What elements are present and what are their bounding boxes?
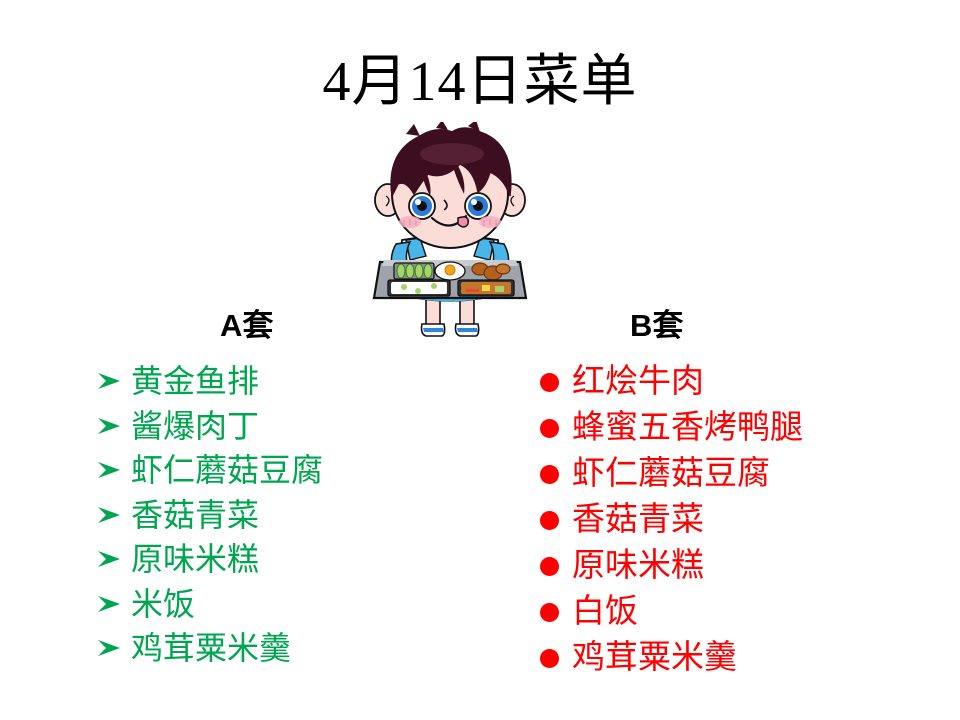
list-item-label: 虾仁蘑菇豆腐 bbox=[572, 451, 770, 497]
list-item: 原味米糕 bbox=[70, 537, 430, 582]
disc-bullet-icon bbox=[540, 419, 559, 438]
set-b-heading-latin: B bbox=[630, 308, 652, 343]
list-item: 蜂蜜五香烤鸭腿 bbox=[520, 405, 920, 451]
arrow-bullet-icon bbox=[96, 639, 122, 657]
list-item-label: 鸡茸粟米羹 bbox=[131, 626, 291, 671]
list-item: 鸡茸粟米羹 bbox=[70, 626, 430, 671]
list-item: 原味米糕 bbox=[520, 543, 920, 589]
arrow-bullet-icon bbox=[96, 550, 122, 568]
list-item: 虾仁蘑菇豆腐 bbox=[70, 448, 430, 493]
list-item-label: 原味米糕 bbox=[131, 537, 259, 582]
set-a-heading-cjk: 套 bbox=[242, 308, 273, 343]
set-b-heading-cjk: 套 bbox=[652, 308, 683, 343]
list-item-label: 香菇青菜 bbox=[572, 497, 704, 543]
disc-bullet-icon bbox=[540, 557, 559, 576]
menu-slide: 4月14日菜单 bbox=[0, 0, 960, 720]
fried-egg-food bbox=[435, 262, 465, 280]
disc-bullet-icon bbox=[540, 511, 559, 530]
set-a-item-list: 黄金鱼排 酱爆肉丁 虾仁蘑菇豆腐 香菇青菜 bbox=[70, 359, 430, 671]
list-item: 红烩牛肉 bbox=[520, 359, 920, 405]
menu-column-set-a: A套 黄金鱼排 酱爆肉丁 虾仁蘑菇豆腐 bbox=[70, 300, 430, 671]
list-item-label: 米饭 bbox=[131, 582, 195, 627]
rice-food bbox=[388, 280, 450, 296]
list-item-label: 白饭 bbox=[572, 589, 638, 635]
arrow-bullet-icon bbox=[96, 372, 122, 390]
arrow-bullet-icon bbox=[96, 461, 122, 479]
list-item-label: 酱爆肉丁 bbox=[131, 404, 259, 449]
disc-bullet-icon bbox=[540, 649, 559, 668]
side-dish-food bbox=[458, 280, 514, 296]
lunch-tray-group bbox=[374, 260, 526, 298]
set-a-heading-latin: A bbox=[220, 308, 242, 343]
list-item-label: 原味米糕 bbox=[572, 543, 704, 589]
list-item-label: 虾仁蘑菇豆腐 bbox=[131, 448, 323, 493]
disc-bullet-icon bbox=[540, 465, 559, 484]
list-item: 香菇青菜 bbox=[70, 493, 430, 538]
disc-bullet-icon bbox=[540, 373, 559, 392]
page-title: 4月14日菜单 bbox=[0, 52, 960, 114]
list-item: 鸡茸粟米羹 bbox=[520, 635, 920, 681]
list-item: 酱爆肉丁 bbox=[70, 404, 430, 449]
list-item-label: 红烩牛肉 bbox=[572, 359, 704, 405]
arrow-bullet-icon bbox=[96, 506, 122, 524]
list-item: 黄金鱼排 bbox=[70, 359, 430, 404]
list-item: 米饭 bbox=[70, 582, 430, 627]
arrow-bullet-icon bbox=[96, 595, 122, 613]
menu-column-set-b: B套 红烩牛肉 蜂蜜五香烤鸭腿 虾仁蘑菇豆腐 香菇青菜 原味米糕 bbox=[520, 300, 920, 681]
list-item-label: 香菇青菜 bbox=[131, 493, 259, 538]
tongue-shape bbox=[458, 217, 468, 227]
disc-bullet-icon bbox=[540, 603, 559, 622]
set-b-item-list: 红烩牛肉 蜂蜜五香烤鸭腿 虾仁蘑菇豆腐 香菇青菜 原味米糕 白饭 bbox=[520, 359, 920, 681]
list-item: 白饭 bbox=[520, 589, 920, 635]
arrow-bullet-icon bbox=[96, 417, 122, 435]
list-item-label: 黄金鱼排 bbox=[131, 359, 259, 404]
list-item: 香菇青菜 bbox=[520, 497, 920, 543]
list-item-label: 鸡茸粟米羹 bbox=[572, 635, 737, 681]
set-a-heading: A套 bbox=[70, 300, 430, 345]
set-b-heading: B套 bbox=[520, 300, 920, 345]
list-item-label: 蜂蜜五香烤鸭腿 bbox=[572, 405, 803, 451]
list-item: 虾仁蘑菇豆腐 bbox=[520, 451, 920, 497]
